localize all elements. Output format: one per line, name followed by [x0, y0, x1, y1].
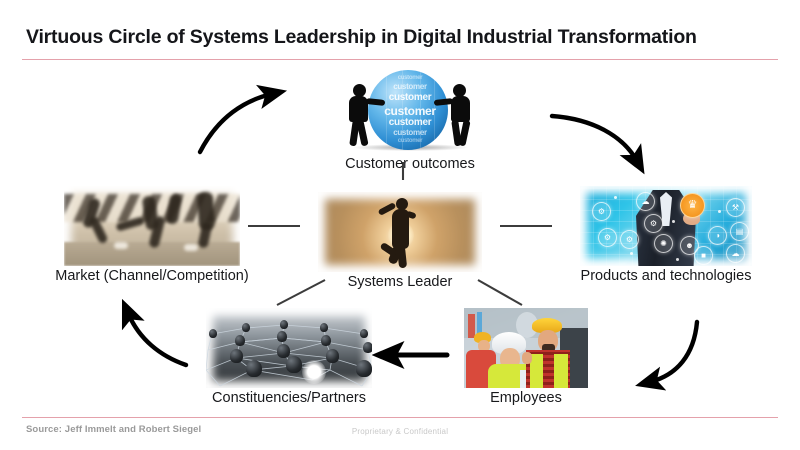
- title-divider-top: [22, 59, 778, 60]
- globe-word: customer: [368, 105, 448, 117]
- node-label-partners: Constituencies/Partners: [212, 390, 366, 406]
- spoke-hub-partners: [277, 280, 325, 305]
- node-products-and-technologies[interactable]: ♛ ⚙ ⚙ ⚙ ☁ ⚙ ✺ ☻ ◑ ⚒ ▤ ■ ☁ Products and t…: [580, 186, 752, 266]
- globe-word: customer: [368, 118, 448, 128]
- crane-icon: ⚒: [726, 198, 745, 217]
- page-title: Virtuous Circle of Systems Leadership in…: [26, 26, 756, 49]
- node-market-channel-competition[interactable]: Market (Channel/Competition): [64, 186, 240, 266]
- market-image: [64, 186, 240, 266]
- node-label-market: Market (Channel/Competition): [55, 268, 248, 284]
- gear-icon: ⚙: [598, 228, 617, 247]
- hi-vis-vest-man-right: [554, 354, 568, 388]
- systems-leader-image: [318, 192, 482, 272]
- customer-globe-icon: customer customer customer customer cust…: [368, 70, 448, 150]
- arrow-products-to-employees: [650, 322, 697, 382]
- arrow-market-to-customer: [200, 94, 272, 152]
- highlighted-node: [302, 360, 326, 384]
- wifi-icon: ◑: [708, 226, 727, 245]
- products-technologies-image: ♛ ⚙ ⚙ ⚙ ☁ ⚙ ✺ ☻ ◑ ⚒ ▤ ■ ☁: [580, 186, 752, 266]
- cloud-upload-icon: ☁: [726, 244, 745, 263]
- spoke-hub-employees: [478, 280, 522, 305]
- cog-icon: ✺: [654, 234, 673, 253]
- chip-icon: ▤: [730, 222, 749, 241]
- slide-canvas: Virtuous Circle of Systems Leadership in…: [0, 0, 800, 450]
- node-label-employees: Employees: [490, 390, 562, 406]
- node-constituencies-partners[interactable]: Constituencies/Partners: [206, 308, 372, 388]
- globe-word: customer: [368, 75, 448, 81]
- node-label-systems-leader: Systems Leader: [348, 274, 453, 290]
- factory-icon: ♛: [680, 193, 705, 218]
- globe-word: customer: [368, 138, 448, 144]
- globe-word: customer: [368, 83, 448, 91]
- truck-icon: ■: [694, 246, 713, 265]
- node-employees[interactable]: Employees: [464, 308, 588, 388]
- arrow-customer-to-products: [552, 116, 637, 161]
- globe-word: customer: [368, 129, 448, 137]
- employees-image: [464, 308, 588, 388]
- settings-icon: ⚙: [644, 214, 663, 233]
- gears-icon: ⚙: [620, 230, 639, 249]
- arrow-partners-to-market: [128, 313, 186, 365]
- constituencies-partners-image: [206, 308, 372, 388]
- node-customer-outcomes[interactable]: customer customer customer customer cust…: [325, 68, 495, 154]
- customer-outcomes-image: customer customer customer customer cust…: [325, 68, 495, 154]
- robot-arm-icon: ⚙: [592, 202, 611, 221]
- node-label-customer-outcomes: Customer outcomes: [345, 156, 475, 172]
- hand-gesture: [522, 352, 532, 364]
- confidentiality-notice: Proprietary & Confidential: [0, 427, 800, 436]
- node-label-products: Products and technologies: [581, 268, 752, 284]
- node-systems-leader[interactable]: Systems Leader: [318, 192, 482, 272]
- cloud-icon: ☁: [636, 192, 655, 211]
- footer-divider: [22, 417, 778, 418]
